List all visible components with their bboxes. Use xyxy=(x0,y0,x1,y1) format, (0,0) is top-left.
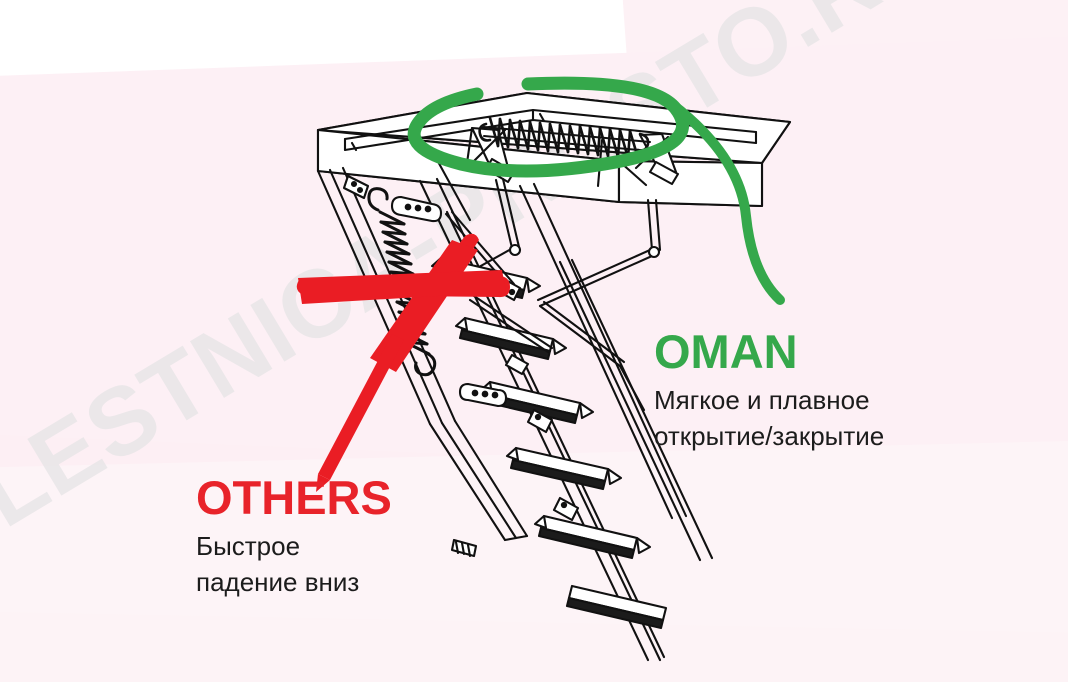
others-subtitle-line-1: Быстрое xyxy=(196,529,392,565)
red-arrow-pointer xyxy=(316,334,404,492)
support-strut-right xyxy=(538,200,660,306)
hinge-bracket xyxy=(344,176,368,198)
oman-subtitle-line-2: открытие/закрытие xyxy=(654,419,884,455)
others-subtitle-line-2: падение вниз xyxy=(196,565,392,601)
hinge-bracket xyxy=(506,355,528,374)
scissor-brace-right xyxy=(540,302,644,410)
loft-ladder-diagram xyxy=(0,0,1068,682)
ladder-rail-rear-lower xyxy=(430,421,527,540)
others-label-block: OTHERS Быстрое падение вниз xyxy=(196,474,392,601)
others-title: OTHERS xyxy=(196,474,392,521)
ladder-step xyxy=(511,448,608,489)
oman-title: OMAN xyxy=(654,328,884,375)
infographic-canvas: LESTNICA-PROSTO.RU xyxy=(0,0,1068,682)
hinge-bracket xyxy=(452,540,476,556)
ladder-step xyxy=(539,516,637,558)
hinge-bracket xyxy=(554,498,578,520)
oman-subtitle-line-1: Мягкое и плавное xyxy=(654,383,884,419)
spring-adjuster-plate xyxy=(392,197,441,221)
oman-label-block: OMAN Мягкое и плавное открытие/закрытие xyxy=(654,328,884,455)
